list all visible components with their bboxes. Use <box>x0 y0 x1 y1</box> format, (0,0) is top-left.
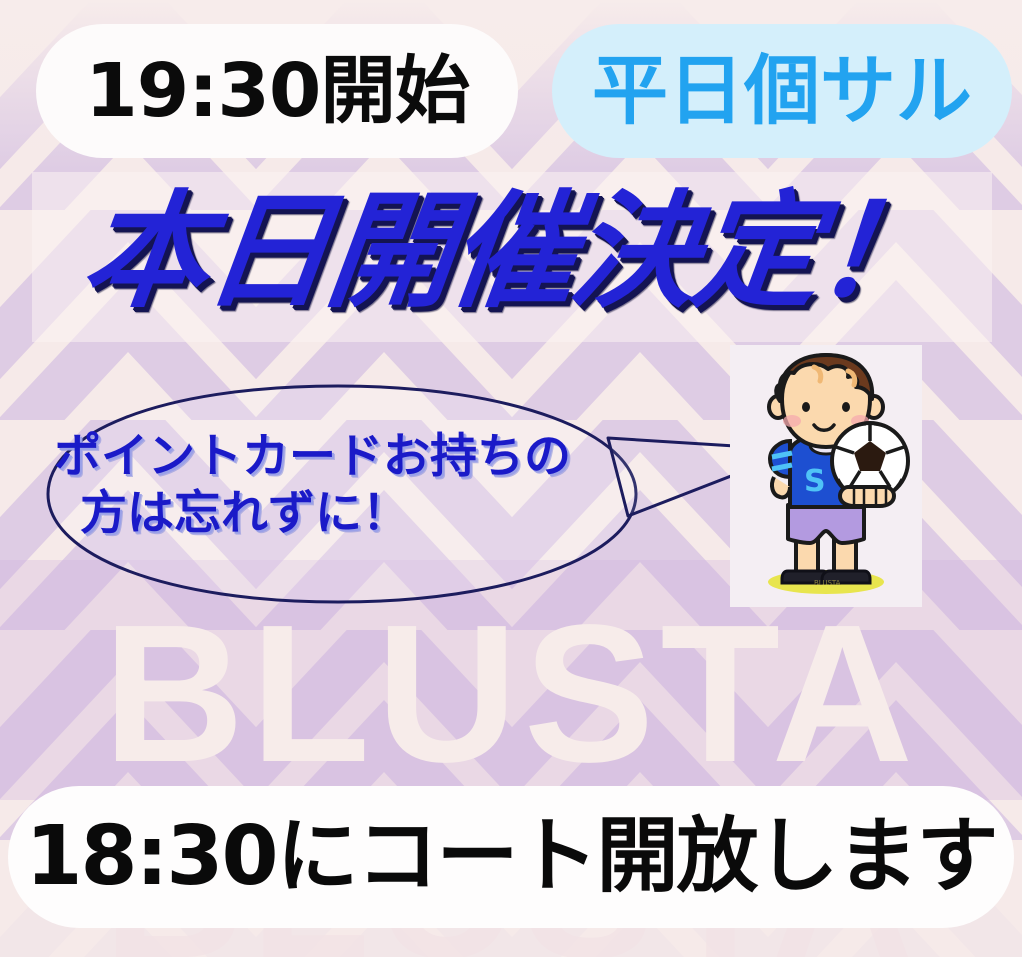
character-card: S BLU <box>730 345 922 607</box>
weekday-event-pill: 平日個サル <box>552 24 1012 158</box>
svg-text:BLUSTA: BLUSTA <box>814 579 841 587</box>
speech-bubble-line-1: ポイントカードお持ちの <box>54 428 654 485</box>
watermark-blusta: BLUSTA <box>0 596 1022 792</box>
speech-bubble: ポイントカードお持ちの 方は忘れずに！ <box>8 376 818 616</box>
court-open-label: 18:30にコート開放します <box>25 816 996 898</box>
speech-bubble-text: ポイントカードお持ちの 方は忘れずに！ <box>54 428 654 543</box>
court-open-pill: 18:30にコート開放します <box>8 786 1014 928</box>
headline-text: 本日開催決定！ <box>0 178 1022 327</box>
start-time-label: 19:30開始 <box>85 54 469 128</box>
svg-text:S: S <box>804 464 826 499</box>
poster-canvas: BLUSTA BLUSTA 19:30開始 平日個サル 本日開催決定！ ポイント… <box>0 0 1022 957</box>
weekday-event-label: 平日個サル <box>592 53 972 129</box>
start-time-pill: 19:30開始 <box>36 24 518 158</box>
soccer-boy-mascot-icon: S BLU <box>730 345 922 607</box>
speech-bubble-line-2: 方は忘れずに！ <box>54 485 654 542</box>
